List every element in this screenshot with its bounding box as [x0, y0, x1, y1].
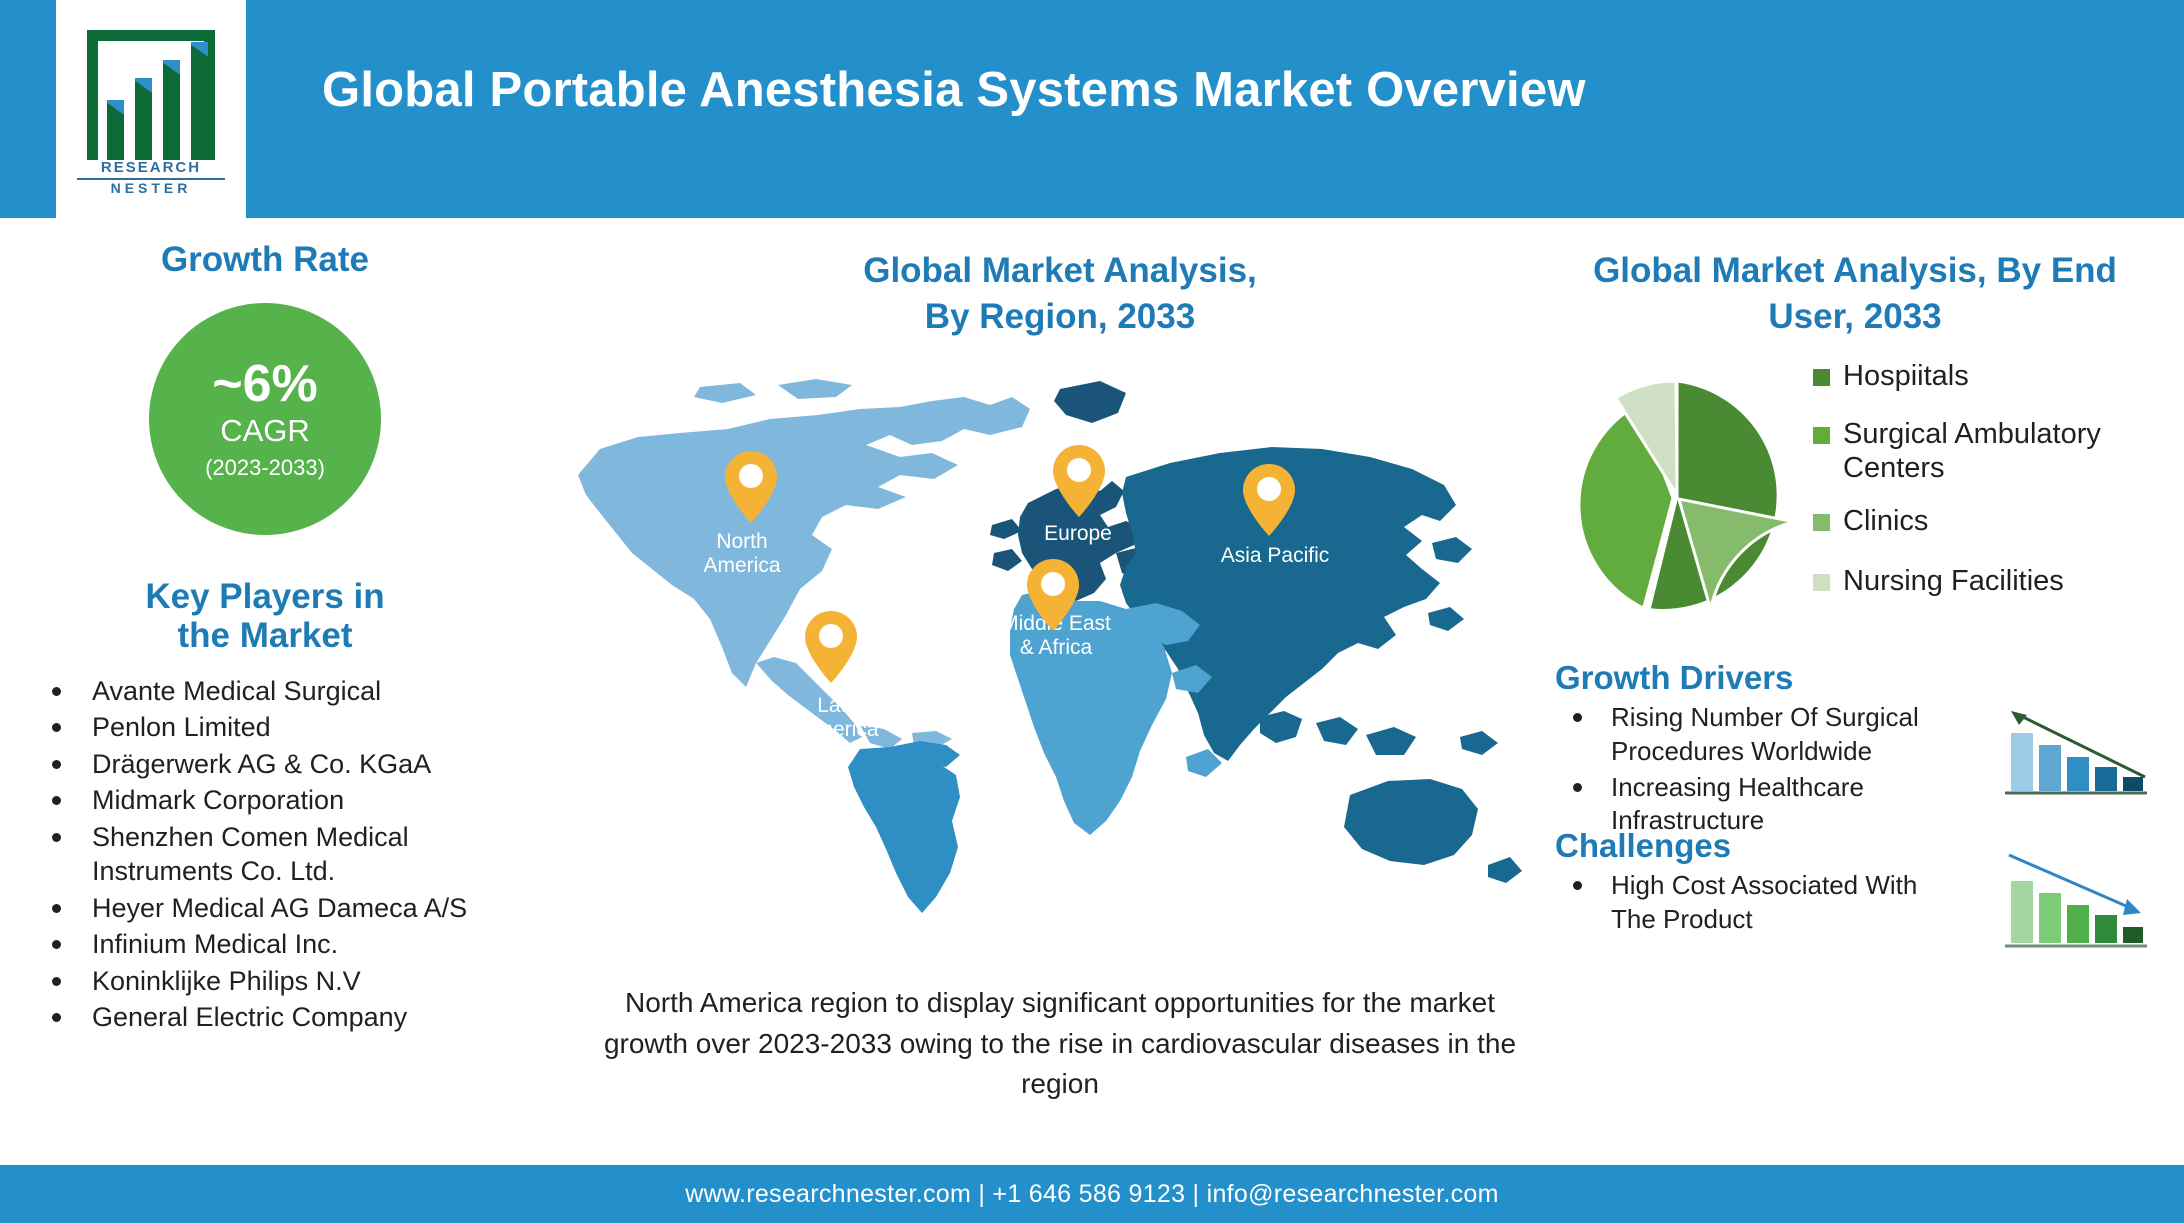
logo-bar-4	[191, 42, 208, 160]
map-pin-europe[interactable]	[1050, 443, 1108, 519]
end-user-heading-line2: User, 2033	[1555, 294, 2155, 340]
logo-text-nester: NESTER	[77, 180, 225, 196]
left-column: Growth Rate ~6% CAGR (2023-2033) Key Pla…	[30, 240, 500, 1037]
legend-item-clinics[interactable]: Clinics	[1813, 504, 2153, 538]
legend-swatch-icon	[1813, 514, 1830, 531]
list-item: Shenzhen Comen Medical Instruments Co. L…	[30, 820, 500, 889]
growth-drivers-list: Rising Number Of Surgical Procedures Wor…	[1555, 701, 1945, 838]
pie-legend: Hospiitals Surgical Ambulatory Centers C…	[1813, 359, 2153, 622]
growth-drivers-section: Growth Drivers Rising Number Of Surgical…	[1555, 659, 2155, 809]
key-players-list: Avante Medical Surgical Penlon Limited D…	[30, 674, 500, 1035]
legend-label: Hospiitals	[1843, 359, 1969, 393]
footer-contact-text: www.researchnester.com | +1 646 586 9123…	[685, 1180, 1498, 1209]
legend-item-nursing-facilities[interactable]: Nursing Facilities	[1813, 564, 2153, 598]
cagr-badge: ~6% CAGR (2023-2033)	[149, 303, 381, 535]
world-map: North America Latin America Europe Middl…	[560, 357, 1560, 977]
list-item: High Cost Associated With The Product	[1555, 869, 1945, 937]
list-item: Avante Medical Surgical	[30, 674, 500, 709]
map-pin-latin-america[interactable]	[802, 609, 860, 685]
legend-item-surgical-ambulatory-centers[interactable]: Surgical Ambulatory Centers	[1813, 417, 2153, 485]
key-players-heading-line1: Key Players in	[30, 577, 500, 616]
map-region-iceland	[990, 519, 1022, 539]
map-caption: North America region to display signific…	[560, 983, 1560, 1105]
end-user-heading-line1: Global Market Analysis, By End	[1555, 248, 2155, 294]
page-header: RESEARCH NESTER Global Portable Anesthes…	[0, 0, 2184, 218]
list-item: Infinium Medical Inc.	[30, 927, 500, 962]
logo-bar-2	[135, 78, 152, 160]
list-item: Midmark Corporation	[30, 783, 500, 818]
challenges-list: High Cost Associated With The Product	[1555, 869, 1945, 937]
map-region-north-america	[578, 379, 1030, 749]
cagr-period: (2023-2033)	[205, 455, 325, 481]
region-heading-line2: By Region, 2033	[560, 294, 1560, 340]
challenges-section: Challenges High Cost Associated With The…	[1555, 827, 2155, 977]
map-pin-asia-pacific[interactable]	[1240, 462, 1298, 538]
map-pin-middle-east-africa[interactable]	[1024, 557, 1082, 633]
logo-bar-3	[163, 60, 180, 160]
page-footer: www.researchnester.com | +1 646 586 9123…	[0, 1165, 2184, 1223]
page-title: Global Portable Anesthesia Systems Marke…	[322, 62, 1586, 118]
key-players-heading-line2: the Market	[30, 616, 500, 655]
legend-label: Clinics	[1843, 504, 1928, 538]
declining-bar-chart-green-icon	[1999, 847, 2149, 957]
list-item: General Electric Company	[30, 1000, 500, 1035]
legend-item-hospitals[interactable]: Hospiitals	[1813, 359, 2153, 393]
map-region-latin-america	[848, 741, 960, 913]
pie-chart-svg	[1557, 371, 1797, 621]
growth-drivers-heading: Growth Drivers	[1555, 659, 2155, 697]
center-column: Global Market Analysis, By Region, 2033	[560, 248, 1560, 1105]
cagr-label: CAGR	[220, 412, 310, 451]
legend-swatch-icon	[1813, 427, 1830, 444]
map-region-greenland	[1054, 381, 1126, 423]
logo-bar-1	[107, 100, 124, 160]
declining-bar-chart-blue-icon	[1999, 701, 2149, 801]
legend-swatch-icon	[1813, 369, 1830, 386]
key-players-heading: Key Players in the Market	[30, 577, 500, 655]
list-item: Heyer Medical AG Dameca A/S	[30, 891, 500, 926]
list-item: Drägerwerk AG & Co. KGaA	[30, 747, 500, 782]
legend-label: Surgical Ambulatory Centers	[1843, 417, 2153, 485]
logo-panel: RESEARCH NESTER	[56, 0, 246, 222]
growth-rate-heading: Growth Rate	[30, 240, 500, 279]
research-nester-logo-icon: RESEARCH NESTER	[77, 24, 225, 199]
region-section-heading: Global Market Analysis, By Region, 2033	[560, 248, 1560, 339]
end-user-pie-chart: Hospiitals Surgical Ambulatory Centers C…	[1555, 345, 2155, 645]
growth-rate-circle-wrap: ~6% CAGR (2023-2033)	[30, 303, 500, 535]
map-pin-north-america[interactable]	[722, 449, 780, 525]
end-user-section-heading: Global Market Analysis, By End User, 203…	[1555, 248, 2155, 339]
list-item: Penlon Limited	[30, 710, 500, 745]
map-region-asia-pacific	[1120, 447, 1522, 883]
list-item: Koninklijke Philips N.V	[30, 964, 500, 999]
right-column: Global Market Analysis, By End User, 203…	[1555, 248, 2155, 977]
cagr-value: ~6%	[212, 358, 318, 410]
region-heading-line1: Global Market Analysis,	[560, 248, 1560, 294]
logo-text-research: RESEARCH	[77, 159, 225, 180]
legend-label: Nursing Facilities	[1843, 564, 2064, 598]
legend-swatch-icon	[1813, 574, 1830, 591]
world-map-svg	[560, 357, 1560, 917]
list-item: Rising Number Of Surgical Procedures Wor…	[1555, 701, 1945, 769]
